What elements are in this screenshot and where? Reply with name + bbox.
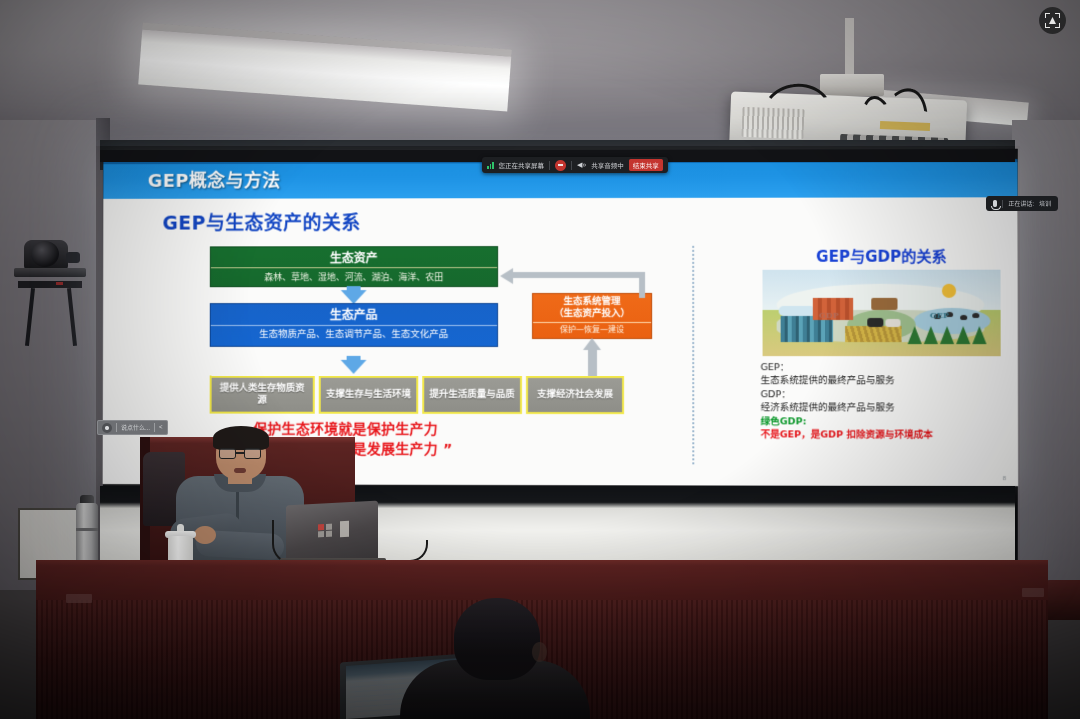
management-box-footer: 保护—恢复—建设 bbox=[533, 322, 651, 338]
illustration-train bbox=[779, 306, 813, 316]
stop-share-icon[interactable] bbox=[555, 160, 566, 171]
illustration-farm-field bbox=[845, 326, 902, 342]
outcome-box-1: 提供人类生存物质资源 bbox=[210, 376, 315, 414]
signal-bars-icon bbox=[487, 162, 494, 169]
slide-heading: GEP与生态资产的关系 bbox=[162, 208, 360, 235]
arrow-down-stem bbox=[347, 286, 361, 292]
eyeglasses-icon bbox=[219, 448, 263, 459]
product-box-title: 生态产品 bbox=[211, 304, 497, 326]
arrow-left-icon bbox=[500, 268, 513, 284]
diagram-box-ecological-assets: 生态资产 森林、草地、湿地、河流、湖泊、海洋、农田 bbox=[210, 246, 498, 287]
share-status-label: 您正在共享屏幕 bbox=[499, 160, 545, 170]
right-panel-text: GEP： 生态系统提供的最终产品与服务 GDP： 经济系统提供的最终产品与服务 … bbox=[761, 361, 1015, 443]
right-panel-line-3: GDP： bbox=[761, 388, 1015, 402]
desk-name-plate bbox=[66, 594, 92, 603]
active-speaker-badge[interactable]: 正在讲话: 培训 bbox=[986, 196, 1058, 211]
toolbar-divider bbox=[571, 161, 572, 170]
camera-shelf bbox=[14, 268, 86, 277]
diagram-box-ecosystem-management: 生态系统管理 （生态资产投入） 保护—恢复—建设 bbox=[532, 293, 652, 339]
outcome-box-1-label: 提供人类生存物质资源 bbox=[212, 383, 313, 407]
slide-title: GEP概念与方法 bbox=[148, 167, 281, 193]
desk-name-plate bbox=[1022, 588, 1044, 597]
management-box-title: 生态系统管理 （生态资产投入） bbox=[533, 294, 651, 320]
audience-head bbox=[454, 598, 540, 680]
arrow-up-stem bbox=[588, 350, 597, 376]
arrow-down-stem bbox=[347, 356, 361, 362]
arrow-left-stem bbox=[513, 272, 645, 278]
outcome-box-3: 提升生活质量与品质 bbox=[422, 376, 522, 414]
right-panel-title: GEP与GDP的关系 bbox=[755, 246, 1007, 267]
outcome-box-2-label: 支撑生存与生活环境 bbox=[322, 389, 415, 401]
chat-input-widget[interactable]: 说点什么... < bbox=[97, 420, 168, 435]
camera-lens-icon bbox=[31, 241, 59, 267]
arrow-up-icon bbox=[583, 338, 601, 350]
right-panel-line-1: GEP： bbox=[761, 361, 1015, 375]
quote-close-mark: ” bbox=[443, 442, 453, 458]
right-wall bbox=[1012, 120, 1080, 580]
outcome-box-2: 支撑生存与生活环境 bbox=[319, 376, 419, 414]
screenshot-stage: GEP概念与方法 GEP与生态资产的关系 生态资产 森林、草地、湿地、河流、湖泊… bbox=[0, 0, 1080, 719]
projector-mount-bracket bbox=[820, 74, 884, 96]
product-box-items: 生态物质产品、生态调节产品、生态文化产品 bbox=[211, 326, 497, 346]
slide-page-number: 8 bbox=[1003, 476, 1006, 482]
camera-shelf-lower bbox=[18, 281, 82, 288]
thermos-band bbox=[76, 528, 98, 531]
laptop-logo-icon bbox=[318, 524, 332, 538]
right-panel-line-5: 绿色GDP: bbox=[761, 415, 1015, 429]
microphone-icon bbox=[993, 200, 997, 207]
projector-mount-pole bbox=[845, 18, 854, 80]
right-panel-line-4: 经济系统提供的最终产品与服务 bbox=[761, 402, 1015, 416]
asset-box-items: 森林、草地、湿地、河流、湖泊、海洋、农田 bbox=[211, 268, 497, 286]
asset-box-title: 生态资产 bbox=[211, 247, 497, 268]
arrow-down-icon bbox=[341, 290, 367, 304]
illustration-gdp-label: GDP bbox=[819, 310, 839, 320]
scan-frame-icon bbox=[1045, 13, 1060, 28]
outcome-box-4-label: 支撑经济社会发展 bbox=[533, 389, 617, 401]
presenter-mouth bbox=[234, 468, 246, 473]
camera-arm bbox=[66, 252, 80, 263]
arrow-down-icon bbox=[341, 360, 367, 374]
speaker-icon: ◀» bbox=[577, 161, 586, 169]
illustration-cow bbox=[885, 319, 900, 327]
right-panel-line-2: 生态系统提供的最终产品与服务 bbox=[761, 375, 1015, 389]
illustration-forest bbox=[906, 320, 991, 344]
diagram-box-ecological-products: 生态产品 生态物质产品、生态调节产品、生态文化产品 bbox=[210, 303, 498, 347]
toolbar-divider bbox=[549, 161, 550, 170]
scan-button[interactable] bbox=[1039, 7, 1066, 34]
end-share-button[interactable]: 结束共享 bbox=[629, 159, 663, 171]
illustration-sun bbox=[942, 284, 956, 298]
audience-ear bbox=[532, 642, 547, 662]
speaking-name: 培训 bbox=[1039, 199, 1051, 208]
illustration-gep-label: GEP bbox=[930, 310, 949, 320]
badge-divider bbox=[1002, 200, 1003, 208]
chat-input-placeholder[interactable]: 说点什么... bbox=[121, 423, 150, 432]
presenter-hand bbox=[194, 526, 216, 544]
illustration-cow bbox=[867, 318, 883, 327]
chevron-left-icon[interactable]: < bbox=[159, 425, 163, 431]
slide-vertical-divider bbox=[692, 246, 694, 464]
chat-divider bbox=[116, 423, 117, 432]
presenter-hair bbox=[213, 426, 269, 450]
management-title-text: 生态系统管理 bbox=[563, 296, 620, 307]
illustration-truck bbox=[871, 298, 897, 310]
right-panel-line-6: 不是GEP，是GDP 扣除资源与环境成本 bbox=[761, 429, 1015, 443]
camera-status-led bbox=[56, 282, 63, 285]
audience-person bbox=[400, 598, 590, 719]
presenter-laptop bbox=[286, 501, 378, 566]
management-subtitle-text: （生态资产投入） bbox=[554, 308, 630, 319]
screen-share-toolbar[interactable]: 您正在共享屏幕 ◀» 共享音频中 结束共享 bbox=[482, 157, 668, 173]
arrow-left-elbow bbox=[639, 272, 645, 298]
side-chair bbox=[1046, 580, 1080, 620]
laptop-sticker bbox=[340, 521, 349, 537]
chat-divider bbox=[154, 423, 155, 432]
share-audio-label: 共享音频中 bbox=[591, 160, 624, 170]
eye-icon[interactable] bbox=[102, 423, 112, 433]
outcome-box-3-label: 提升生活质量与品质 bbox=[425, 389, 518, 401]
gep-gdp-illustration: GDP GEP bbox=[762, 270, 1000, 357]
speaking-label: 正在讲话: bbox=[1008, 199, 1034, 208]
outcome-box-4: 支撑经济社会发展 bbox=[526, 376, 624, 414]
